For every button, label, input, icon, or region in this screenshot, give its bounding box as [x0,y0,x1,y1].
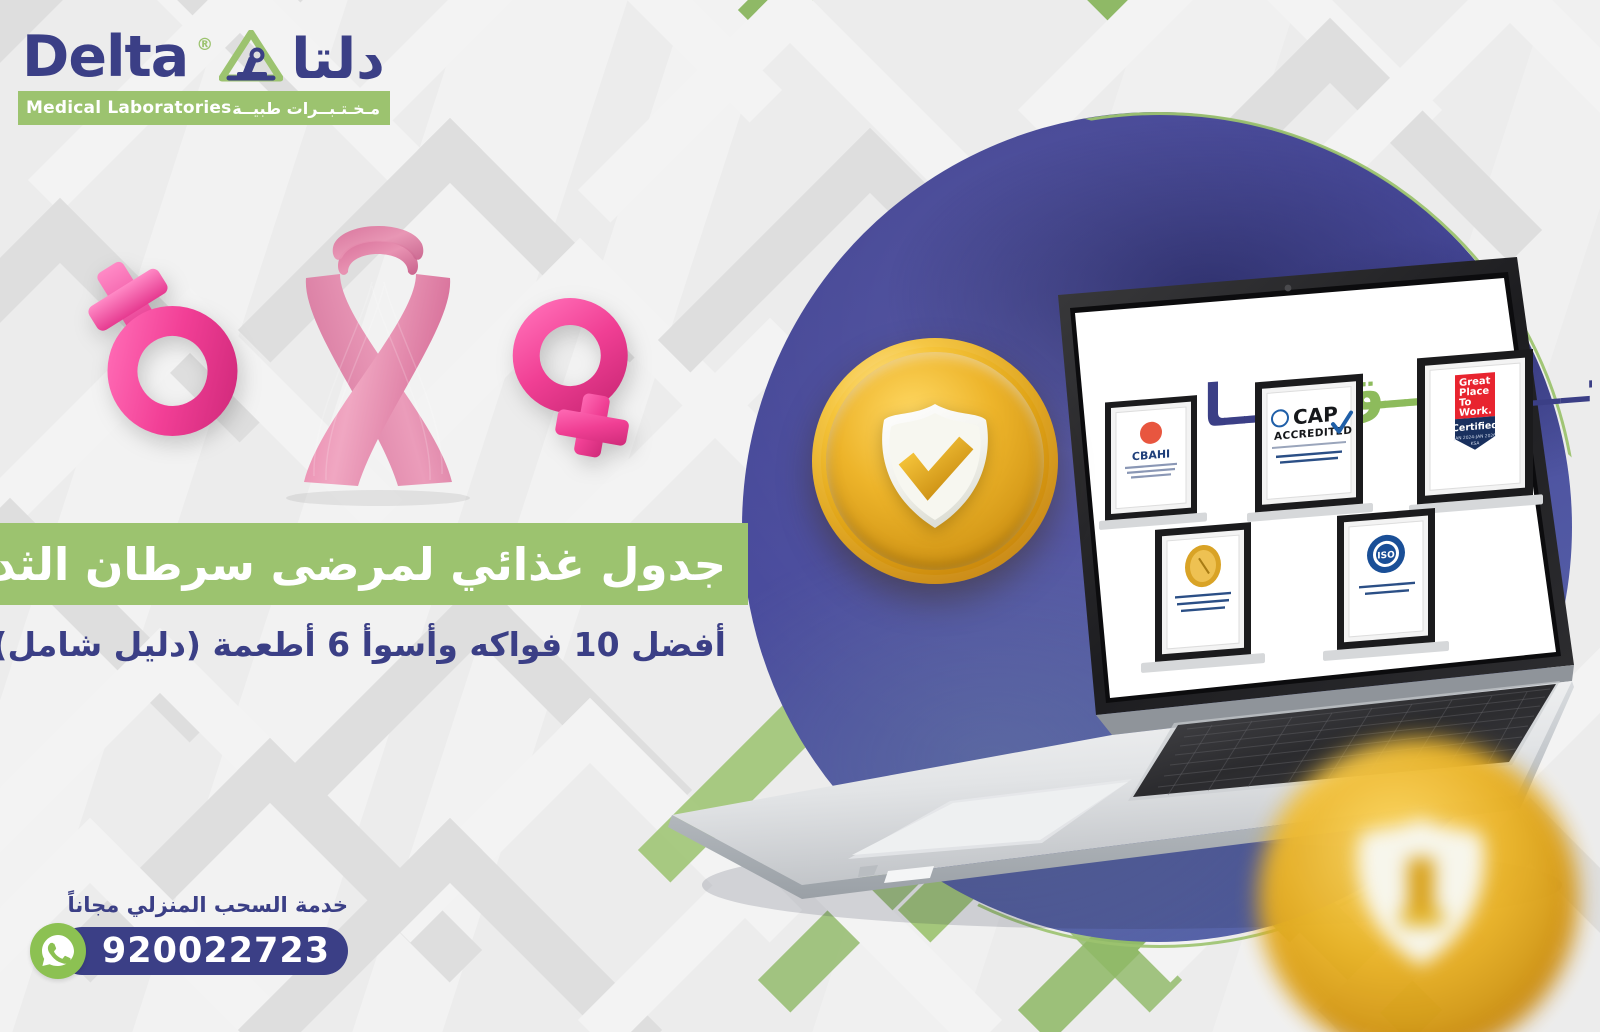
home-collection-service-label: خدمة السحب المنزلي مجاناً [30,893,348,917]
brand-logo[interactable]: Delta ® دلتا Medical Laboratories مـخـتـ… [18,14,390,125]
shield-check-icon [874,400,996,536]
shield-flask-icon [1348,812,1494,974]
registered-trademark-icon: ® [196,37,213,54]
contact-block: خدمة السحب المنزلي مجاناً 920022723 [30,893,390,979]
page-title: جدول غذائي لمرضى سرطان الثدي [0,538,726,591]
phone-number-pill[interactable]: 920022723 [58,927,348,975]
svg-text:ISO: ISO [1377,550,1395,561]
phone-number: 920022723 [102,931,330,971]
microscope-in-triangle-icon [219,30,283,84]
subheadline: أفضل 10 فواكه وأسوأ 6 أطعمة (دليل شامل) [0,613,748,675]
page-subtitle: أفضل 10 فواكه وأسوأ 6 أطعمة (دليل شامل) [0,625,726,664]
poster-canvas: Delta ® دلتا Medical Laboratories مـخـتـ… [0,0,1600,1032]
logo-wordmark-en: Delta [22,29,188,86]
whatsapp-icon[interactable] [30,923,86,979]
svg-text:KSA: KSA [1471,440,1480,447]
logo-tagline-ar: مـخـتـبــرات طبيــة [232,99,380,118]
logo-tagline-en: Medical Laboratories [26,98,231,118]
logo-wordmark-ar: دلتا [291,32,385,88]
logo-tagline-bar: Medical Laboratories مـخـتـبــرات طبيــة [18,91,390,125]
headline-banner: جدول غذائي لمرضى سرطان الثدي [0,523,748,605]
female-venus-symbol-icon [62,248,248,438]
pink-awareness-ribbon-icon [268,186,488,506]
svg-text:CAP: CAP [1293,402,1338,430]
